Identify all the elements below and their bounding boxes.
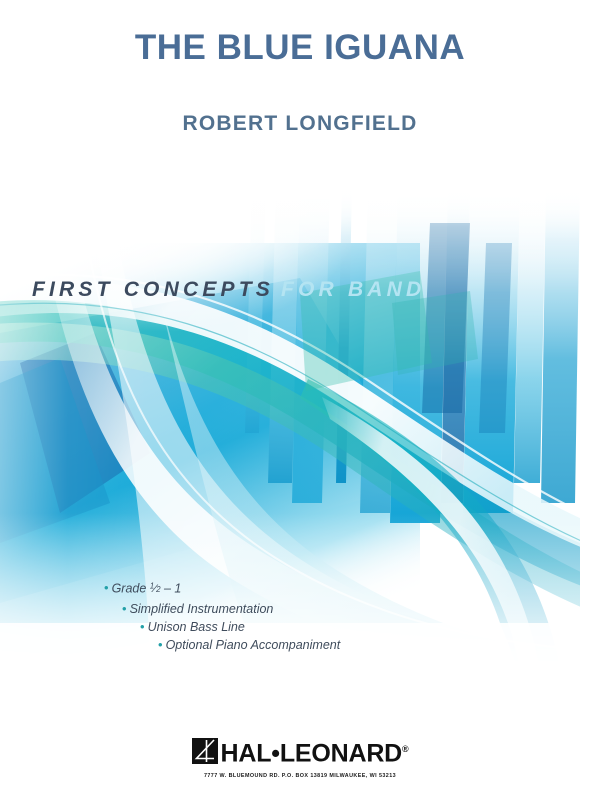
feature-text-suffix: – 1 bbox=[161, 581, 182, 595]
hal-leonard-logo-icon bbox=[192, 738, 218, 764]
score-cover-page: THE BLUE IGUANA ROBERT LONGFIELD FIRST C… bbox=[0, 0, 600, 800]
feature-list: •Grade 1⁄2 – 1 •Simplified Instrumentati… bbox=[0, 578, 600, 654]
list-item: •Simplified Instrumentation bbox=[0, 600, 600, 618]
feature-text: Simplified Instrumentation bbox=[130, 602, 274, 616]
composer-name: ROBERT LONGFIELD bbox=[0, 112, 600, 136]
hal-leonard-logo: HAL•LEONARD® bbox=[192, 736, 409, 766]
bullet-icon: • bbox=[140, 619, 145, 634]
publisher-address: 7777 W. BLUEMOUND RD. P.O. BOX 13819 MIL… bbox=[0, 773, 600, 779]
feature-text-prefix: Grade bbox=[112, 581, 150, 595]
bullet-icon: • bbox=[158, 637, 163, 652]
list-item: •Grade 1⁄2 – 1 bbox=[0, 578, 600, 600]
grade-fraction: 1⁄2 bbox=[150, 583, 161, 595]
publisher-block: HAL•LEONARD® 7777 W. BLUEMOUND RD. P.O. … bbox=[0, 736, 600, 779]
fraction-numerator: 1 bbox=[150, 582, 154, 591]
feature-text: Optional Piano Accompaniment bbox=[166, 638, 341, 652]
registered-mark: ® bbox=[402, 744, 408, 754]
page-title: THE BLUE IGUANA bbox=[0, 28, 600, 68]
publisher-name: HAL•LEONARD® bbox=[221, 736, 409, 766]
bullet-icon: • bbox=[104, 580, 109, 595]
publisher-name-text: HAL•LEONARD bbox=[221, 739, 403, 767]
list-item: •Unison Bass Line bbox=[0, 618, 600, 636]
series-secondary-label: FOR BAND bbox=[281, 278, 425, 301]
title-block: THE BLUE IGUANA ROBERT LONGFIELD bbox=[0, 0, 600, 136]
bullet-icon: • bbox=[122, 601, 127, 616]
series-primary-label: FIRST CONCEPTS bbox=[32, 278, 274, 301]
list-item: •Optional Piano Accompaniment bbox=[0, 636, 600, 654]
series-banner: FIRST CONCEPTSFOR BAND bbox=[0, 278, 600, 302]
feature-text: Unison Bass Line bbox=[148, 620, 245, 634]
